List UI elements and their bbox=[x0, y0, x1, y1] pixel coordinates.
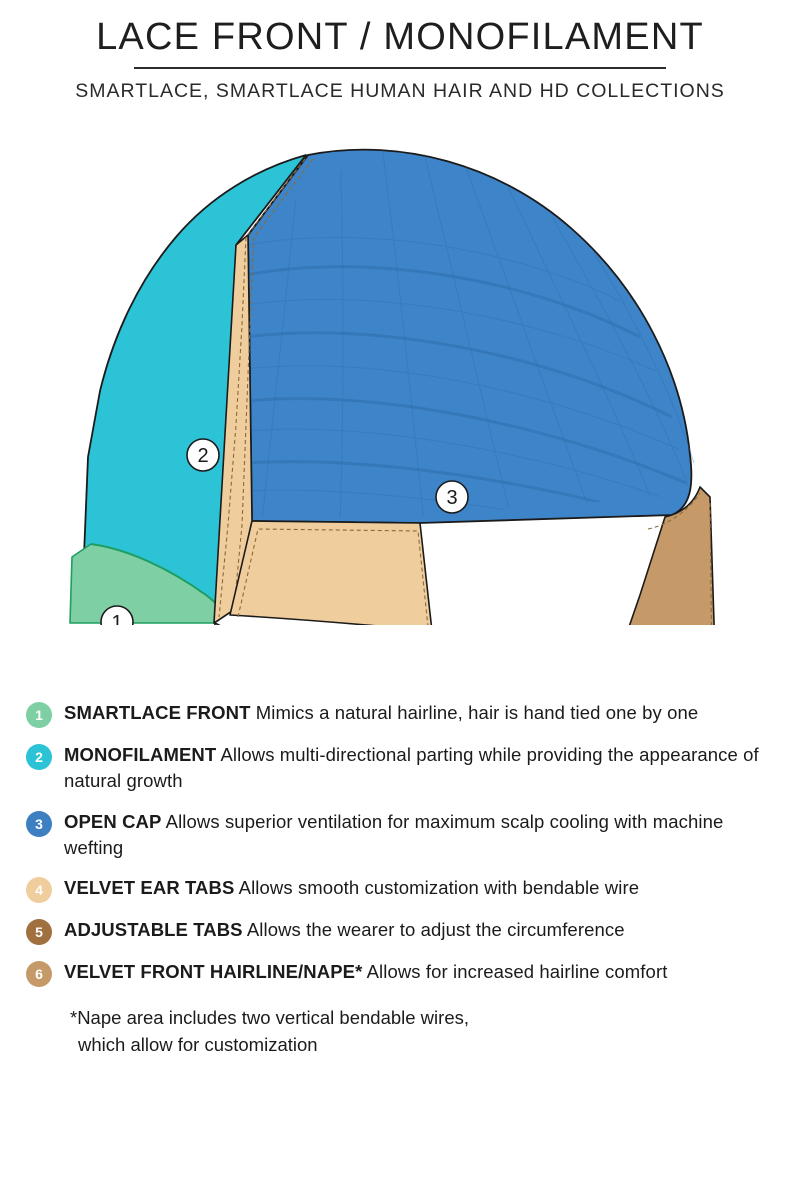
footnote-line-2: which allow for customization bbox=[70, 1032, 778, 1059]
footnote-line-1: *Nape area includes two vertical bendabl… bbox=[70, 1007, 469, 1028]
region-open-cap bbox=[246, 147, 694, 545]
callout-3-label: 3 bbox=[446, 487, 457, 509]
callout-2-label: 2 bbox=[197, 445, 208, 467]
legend-list: 1 SMARTLACE FRONT Mimics a natural hairl… bbox=[0, 700, 800, 1059]
legend-badge-1: 1 bbox=[26, 702, 52, 728]
legend-desc-3: Allows superior ventilation for maximum … bbox=[64, 811, 723, 858]
legend-desc-1: Mimics a natural hairline, hair is hand … bbox=[250, 702, 698, 723]
legend-text-4: VELVET EAR TABS Allows smooth customizat… bbox=[64, 875, 639, 901]
legend-term-4: VELVET EAR TABS bbox=[64, 877, 234, 898]
legend-text-1: SMARTLACE FRONT Mimics a natural hairlin… bbox=[64, 700, 698, 726]
legend-text-3: OPEN CAP Allows superior ventilation for… bbox=[64, 809, 778, 862]
legend-desc-6: Allows for increased hairline comfort bbox=[362, 961, 667, 982]
legend-item-open-cap: 3 OPEN CAP Allows superior ventilation f… bbox=[26, 809, 778, 862]
legend-text-6: VELVET FRONT HAIRLINE/NAPE* Allows for i… bbox=[64, 959, 667, 985]
legend-badge-2: 2 bbox=[26, 744, 52, 770]
callout-1-label: 1 bbox=[111, 612, 122, 625]
legend-item-monofilament: 2 MONOFILAMENT Allows multi-directional … bbox=[26, 742, 778, 795]
page-title: LACE FRONT / MONOFILAMENT bbox=[0, 18, 800, 56]
legend-text-5: ADJUSTABLE TABS Allows the wearer to adj… bbox=[64, 917, 625, 943]
legend-item-adjustable-tabs: 5 ADJUSTABLE TABS Allows the wearer to a… bbox=[26, 917, 778, 945]
legend-item-velvet-front-hairline-nape: 6 VELVET FRONT HAIRLINE/NAPE* Allows for… bbox=[26, 959, 778, 987]
legend-item-velvet-ear-tabs: 4 VELVET EAR TABS Allows smooth customiz… bbox=[26, 875, 778, 903]
legend-term-1: SMARTLACE FRONT bbox=[64, 702, 250, 723]
legend-badge-5: 5 bbox=[26, 919, 52, 945]
title-divider bbox=[134, 67, 666, 69]
diagram-callout-2[interactable]: 2 bbox=[187, 439, 219, 471]
legend-badge-3: 3 bbox=[26, 811, 52, 837]
page-subtitle: SMARTLACE, SMARTLACE HUMAN HAIR AND HD C… bbox=[0, 80, 800, 103]
legend-term-6: VELVET FRONT HAIRLINE/NAPE* bbox=[64, 961, 362, 982]
diagram-callout-3[interactable]: 3 bbox=[436, 481, 468, 513]
legend-desc-5: Allows the wearer to adjust the circumfe… bbox=[243, 919, 625, 940]
wig-cap-diagram: 1 2 3 4 5 6 bbox=[0, 125, 800, 625]
legend-badge-6: 6 bbox=[26, 961, 52, 987]
legend-text-2: MONOFILAMENT Allows multi-directional pa… bbox=[64, 742, 778, 795]
legend-item-smartlace-front: 1 SMARTLACE FRONT Mimics a natural hairl… bbox=[26, 700, 778, 728]
legend-term-2: MONOFILAMENT bbox=[64, 744, 216, 765]
legend-badge-4: 4 bbox=[26, 877, 52, 903]
legend-desc-4: Allows smooth customization with bendabl… bbox=[234, 877, 639, 898]
legend-term-5: ADJUSTABLE TABS bbox=[64, 919, 243, 940]
page-header: LACE FRONT / MONOFILAMENT SMARTLACE, SMA… bbox=[0, 0, 800, 103]
legend-footnote: *Nape area includes two vertical bendabl… bbox=[70, 1005, 778, 1059]
legend-term-3: OPEN CAP bbox=[64, 811, 161, 832]
